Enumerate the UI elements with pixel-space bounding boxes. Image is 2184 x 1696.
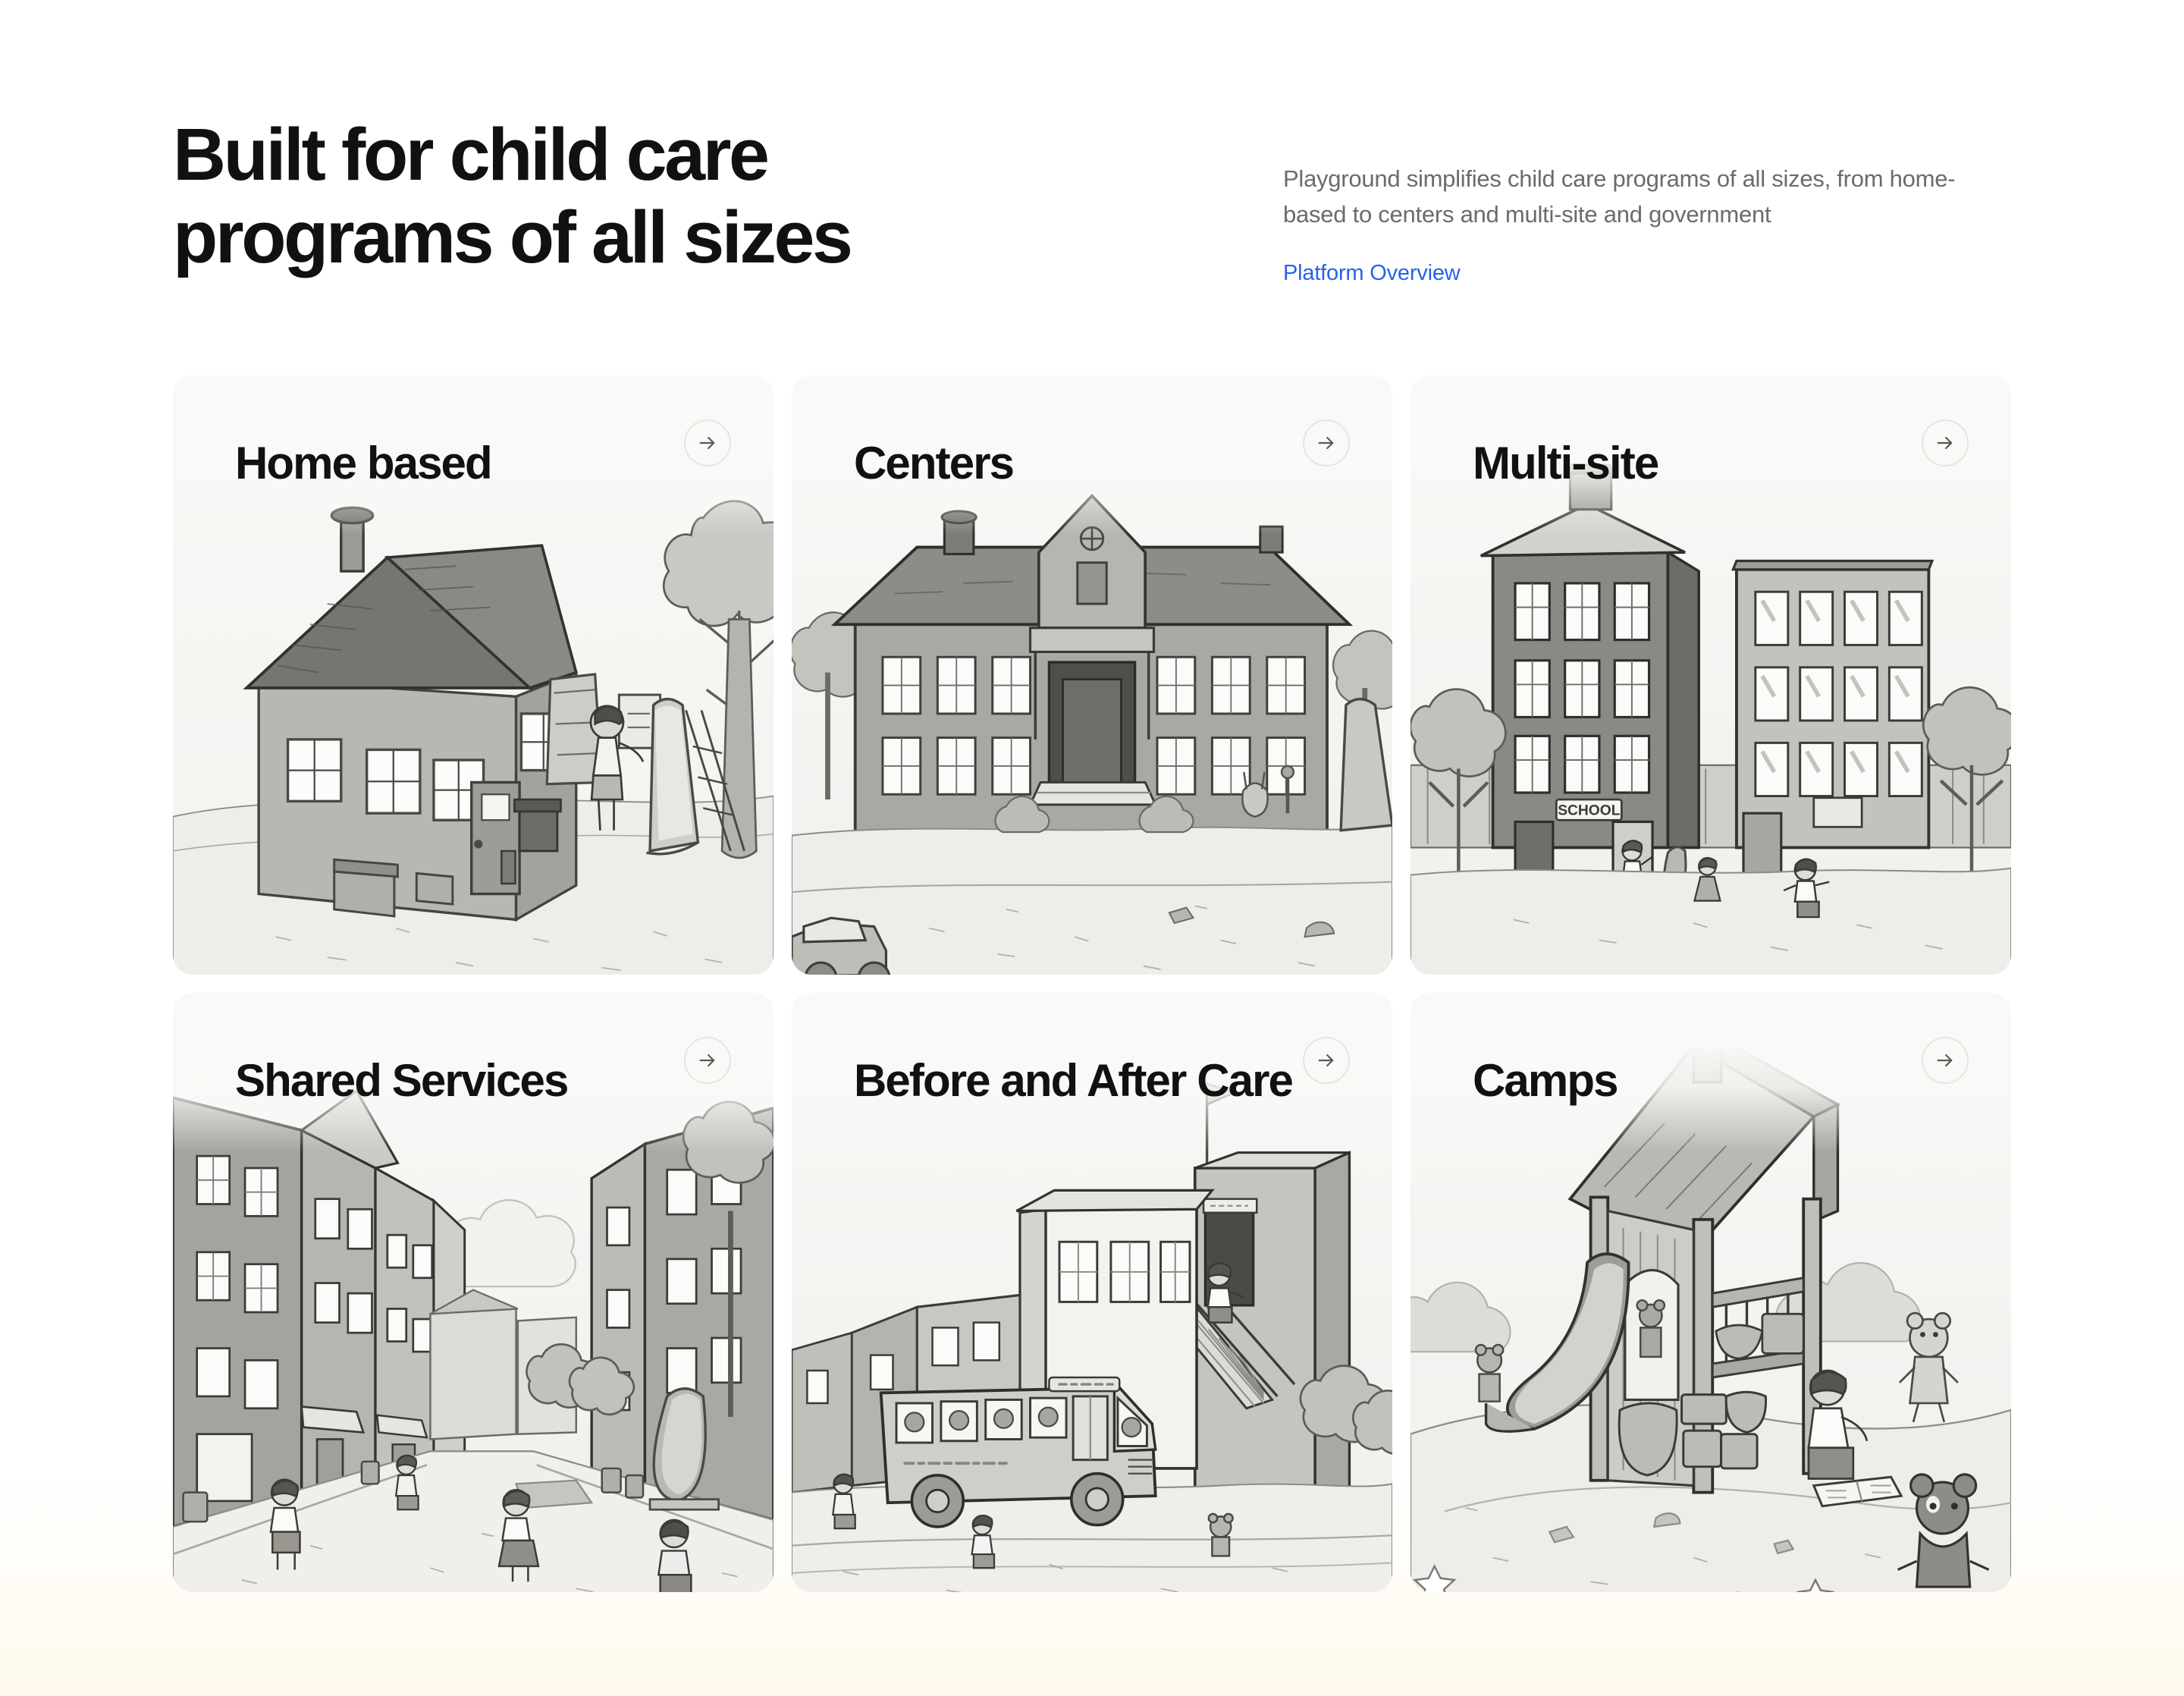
arrow-right-icon[interactable] — [1922, 1037, 1969, 1084]
arrow-right-icon[interactable] — [684, 1037, 731, 1084]
card-title: Shared Services — [235, 1058, 567, 1104]
arrow-right-icon[interactable] — [1922, 419, 1969, 466]
intro-block: Playground simplifies child care program… — [1283, 114, 2011, 286]
platform-overview-link[interactable]: Platform Overview — [1283, 261, 1461, 286]
card-title: Before and After Care — [854, 1058, 1292, 1104]
program-card-camps[interactable]: Camps — [1410, 993, 2011, 1592]
svg-text:SCHOOL: SCHOOL — [1558, 803, 1620, 819]
card-title: Multi-site — [1473, 441, 1658, 486]
page-title: Built for child care programs of all siz… — [173, 114, 851, 278]
program-card-shared-services[interactable]: Shared Services — [173, 993, 773, 1592]
arrow-right-icon[interactable] — [1303, 419, 1350, 466]
program-card-grid: Home based — [173, 375, 2011, 1592]
page-root: Built for child care programs of all siz… — [0, 0, 2184, 1696]
program-card-multi-site[interactable]: SCHOOL — [1410, 375, 2011, 975]
intro-paragraph: Playground simplifies child care program… — [1283, 161, 1996, 232]
page-title-line-2: programs of all sizes — [173, 196, 851, 279]
arrow-right-icon[interactable] — [1303, 1037, 1350, 1084]
arrow-right-icon[interactable] — [684, 419, 731, 466]
page-header: Built for child care programs of all siz… — [173, 0, 2011, 286]
program-card-centers[interactable]: Centers — [792, 375, 1392, 975]
card-title: Centers — [854, 441, 1013, 486]
program-card-before-and-after-care[interactable]: Before and After Care — [792, 993, 1392, 1592]
page-title-line-1: Built for child care — [173, 114, 851, 196]
program-card-home-based[interactable]: Home based — [173, 375, 773, 975]
card-title: Home based — [235, 441, 491, 486]
card-title: Camps — [1473, 1058, 1618, 1104]
